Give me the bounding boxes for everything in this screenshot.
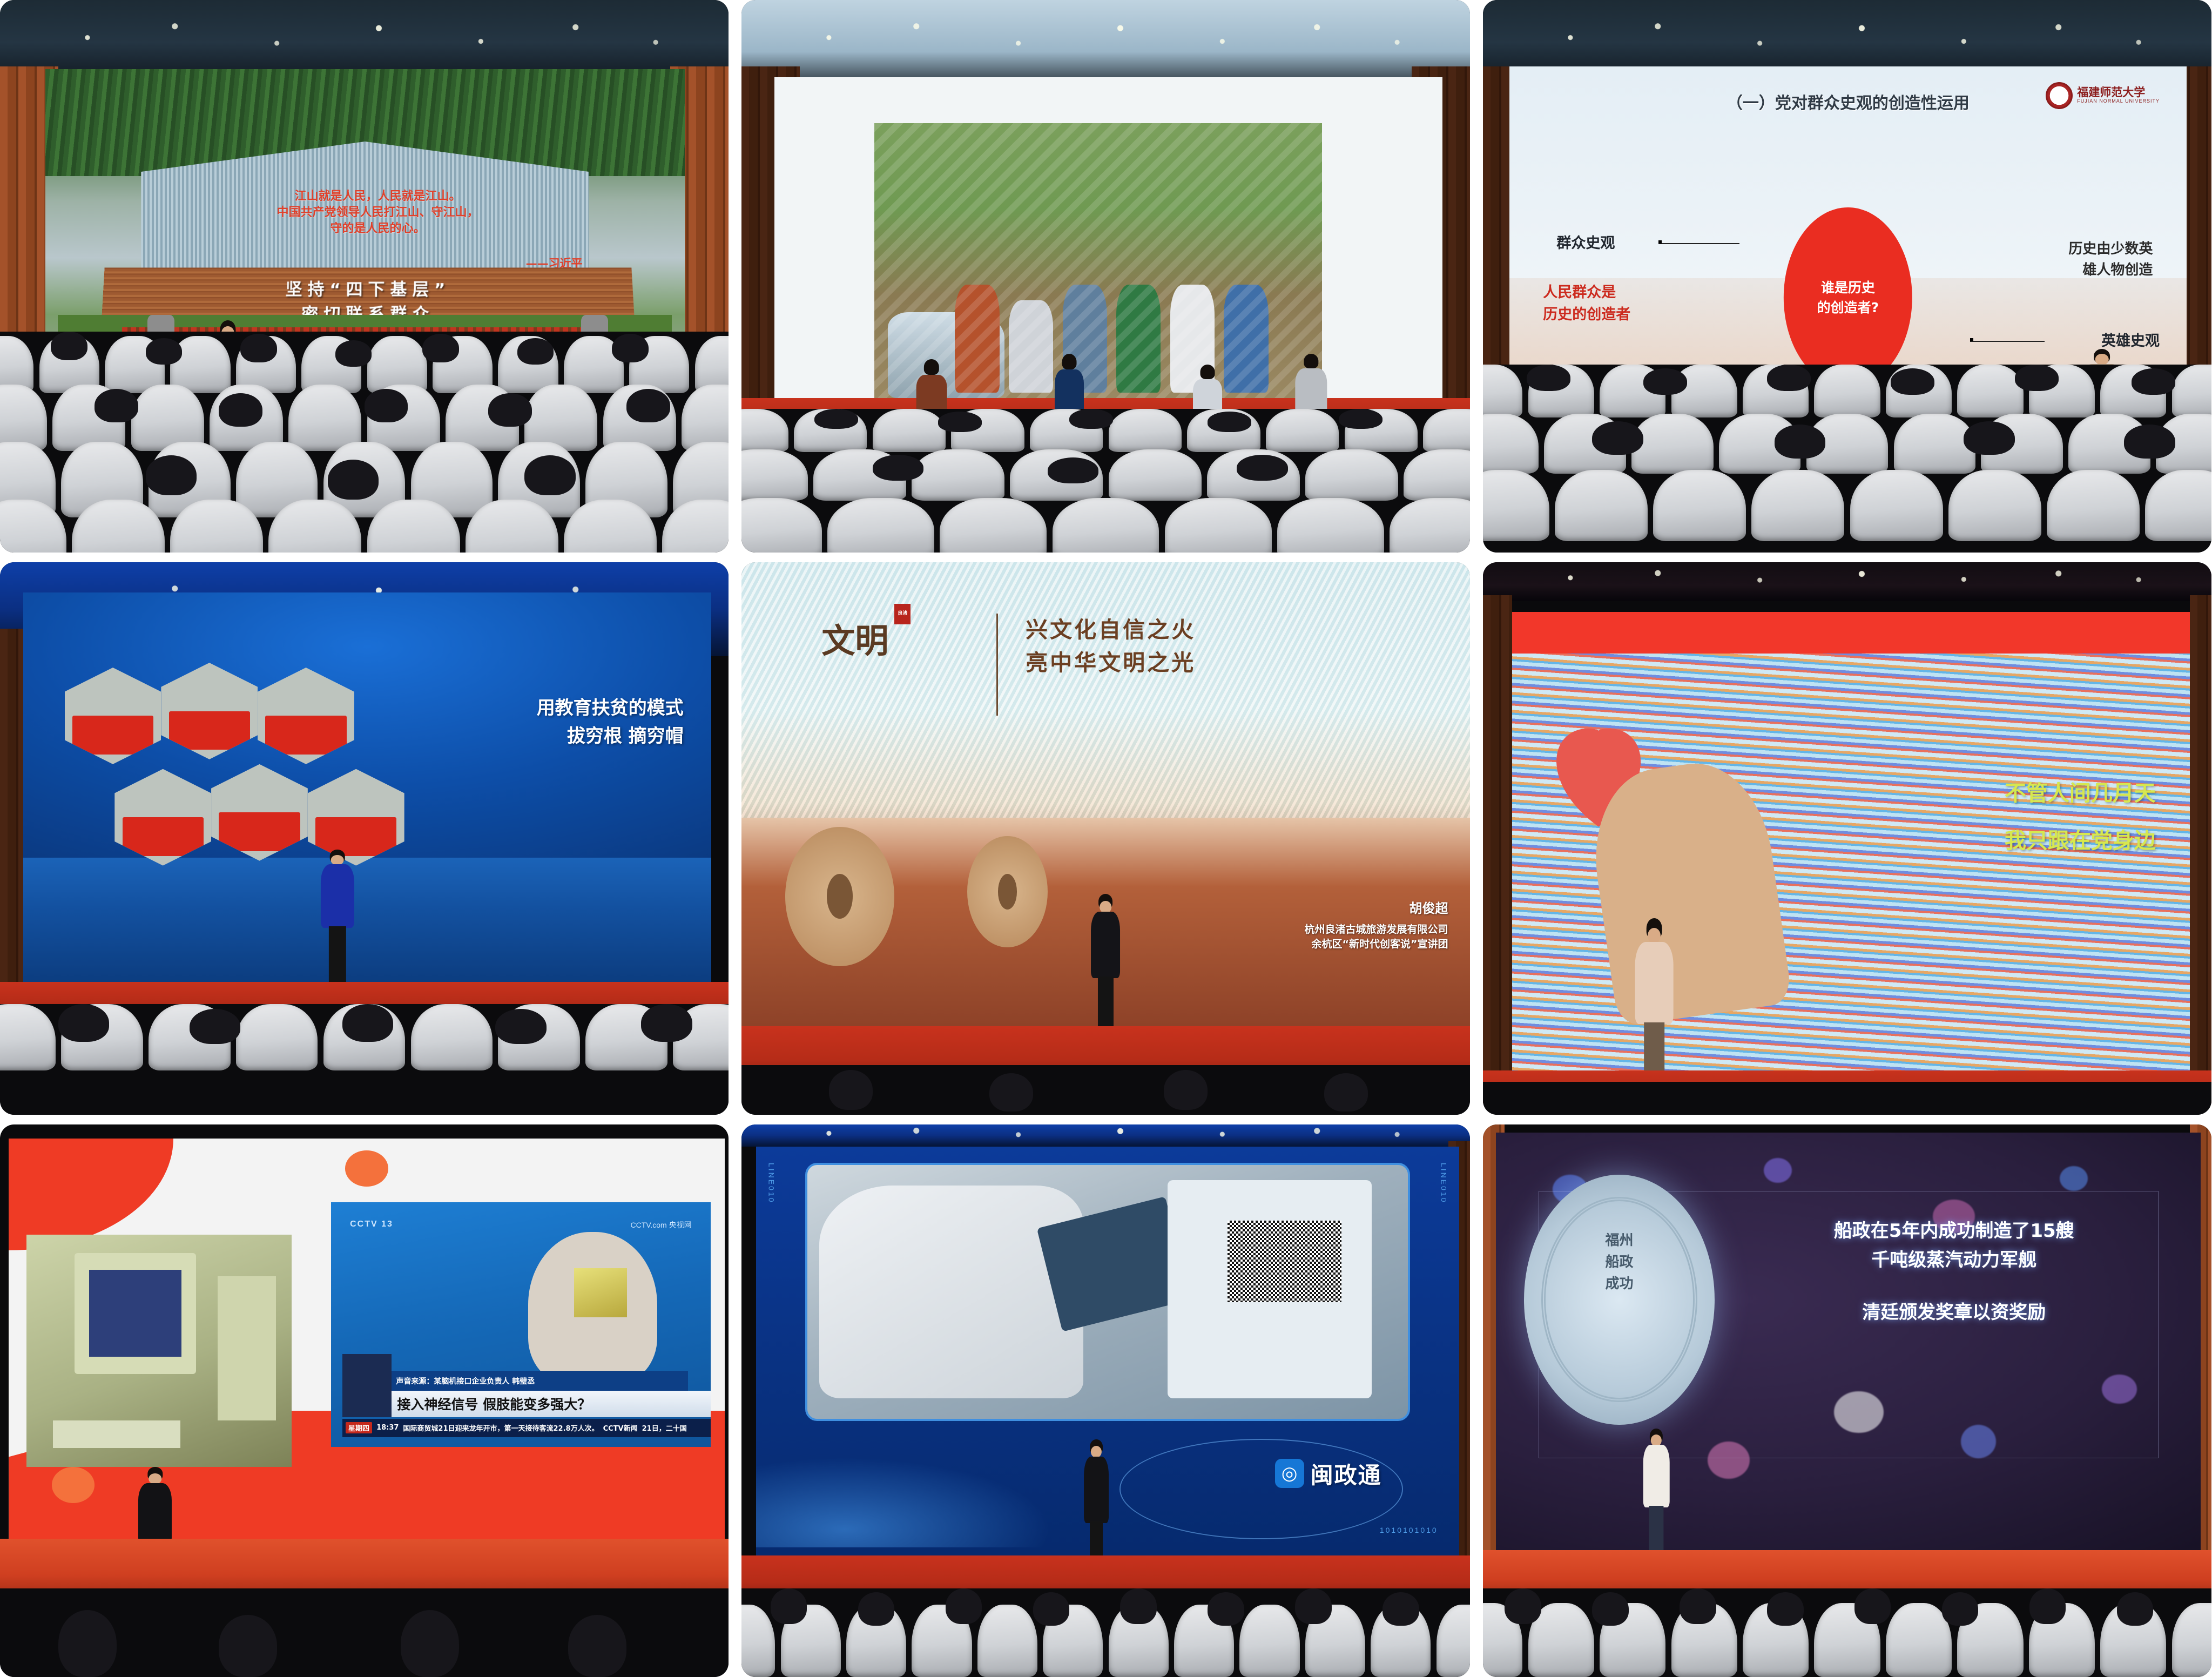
- presenter-legs: [1644, 1022, 1665, 1076]
- calligraphy-right-line-2: 雄人物创造: [2068, 260, 2153, 281]
- arm-with-sleeve: [819, 1186, 1083, 1398]
- calligraphy-right: 历史由少数英 雄人物创造: [2068, 239, 2153, 281]
- presenter-on-screen: [1634, 918, 1675, 1076]
- cctv-news-clip: CCTV 13 CCTV.com 央视网 声音来源：某脑机接口企业负责人 韩璧丞…: [331, 1202, 711, 1446]
- audience-seating: [1483, 365, 2211, 553]
- hexagon-photo: [114, 769, 211, 866]
- hand-icon: [1583, 754, 1793, 1027]
- ticker-day: 星期四: [346, 1422, 372, 1433]
- keyboard: [53, 1420, 180, 1449]
- university-name-zh: 福建师范大学: [2077, 86, 2160, 99]
- speaker-shirt: [138, 1483, 172, 1544]
- speaker-org-line-1: 杭州良渚古城旅游发展有限公司: [1305, 922, 1448, 938]
- question-line-1: 谁是历史: [1821, 278, 1875, 298]
- news-headline: 接入神经信号 假肢能变多强大？: [392, 1391, 710, 1418]
- speaker-legs: [328, 926, 346, 982]
- audience-seating: [741, 1588, 1470, 1677]
- speaker-figure: [1084, 1439, 1109, 1572]
- speaker-credit: 胡俊超 杭州良渚古城旅游发展有限公司 余杭区“新时代创客说”宣讲团: [1305, 899, 1448, 952]
- hexagon-photo-cluster: [65, 663, 422, 904]
- guest-hair: [924, 359, 939, 375]
- ticker-tail-logo: CCTV新闻: [603, 1423, 638, 1433]
- panel-top-left[interactable]: 江山就是人民，人民就是江山。 中国共产党领导人民打江山、守江山， 守的是人民的心…: [0, 0, 729, 553]
- binary-decor: 1010101010: [1380, 1525, 1438, 1535]
- red-top-band: [1512, 612, 2190, 654]
- pc-tower: [218, 1276, 276, 1420]
- lyric-line-2: 我只跟在党身边: [2005, 817, 2156, 865]
- speaker-suit: [1091, 912, 1121, 978]
- cctv-channel-label: CCTV 13: [350, 1220, 393, 1229]
- arrow-left-icon: [1658, 243, 1740, 244]
- speaker-jacket: [321, 864, 354, 928]
- lyric-line-1: 不管人间几月天: [2005, 770, 2156, 817]
- crt-monitor: [75, 1253, 197, 1374]
- headline-line-1: 用教育扶贫的模式: [537, 694, 684, 723]
- photo-collage-grid: 江山就是人民，人民就是江山。 中国共产党领导人民打江山、守江山， 守的是人民的心…: [0, 0, 2212, 1659]
- news-source-line: 声音来源：某脑机接口企业负责人 韩璧丞: [392, 1371, 687, 1390]
- striped-sky-texture: [741, 562, 1470, 818]
- wall-left: [1483, 595, 1512, 1103]
- panel-middle-left[interactable]: 用教育扶贫的模式 拔穷根 摘穷帽: [0, 562, 729, 1115]
- speaker-name: 胡俊超: [1305, 899, 1448, 918]
- presenter-head: [1648, 928, 1661, 944]
- jade-bi-disc: [785, 827, 894, 966]
- label-hero-view: 英雄史观: [2101, 329, 2160, 350]
- university-logo: 福建师范大学 FUJIAN NORMAL UNIVERSITY: [2046, 82, 2160, 109]
- quote-line-3: 守的是人民的心。: [160, 221, 595, 237]
- speaker-figure: [1091, 894, 1121, 1032]
- slide-headline: 用教育扶贫的模式 拔穷根 摘穷帽: [537, 694, 684, 751]
- news-ticker: 星期四 18:37 国际商贸城21日迎来龙年开市，第一天接待客流22.8万人次。…: [342, 1419, 711, 1437]
- orange-dot-decor: [345, 1150, 388, 1187]
- university-seal-icon: [2046, 82, 2073, 109]
- binary-edge-left: LINE010: [766, 1163, 776, 1203]
- calligraphy-left-line-2: 历史的创造者: [1543, 304, 1630, 326]
- binary-edge-right: LINE010: [1439, 1163, 1448, 1203]
- audience-seating: [0, 1588, 729, 1677]
- university-logo-text: 福建师范大学 FUJIAN NORMAL UNIVERSITY: [2077, 86, 2160, 104]
- panel-bottom-left[interactable]: CCTV 13 CCTV.com 央视网 声音来源：某脑机接口企业负责人 韩璧丞…: [0, 1124, 729, 1677]
- retro-computer-photo: [26, 1235, 292, 1467]
- app-logo-text: 闽政通: [1311, 1457, 1382, 1490]
- jade-bi-disc: [967, 836, 1047, 947]
- calligraphy-left-line-1: 人民群众是: [1543, 282, 1630, 304]
- orange-dot-decor: [52, 1467, 95, 1503]
- quote-line-1: 江山就是人民，人民就是江山。: [160, 188, 595, 205]
- speaker-shirt: [1643, 1445, 1670, 1507]
- liangzhu-stamp: 良渚: [894, 604, 911, 624]
- wall-right: [2190, 595, 2211, 1103]
- presenter-clothing: [1635, 942, 1674, 1024]
- presenter-head: [2095, 354, 2109, 365]
- hexagon-photo: [161, 663, 258, 759]
- speaker-org-line-2: 余杭区“新时代创客说”宣讲团: [1305, 937, 1448, 952]
- led-screen-panel-2: [774, 77, 1442, 431]
- guest-hair: [1201, 365, 1215, 379]
- central-question-bubble: 谁是历史 的创造者?: [1784, 207, 1912, 388]
- quote-line-2: 中国共产党领导人民打江山、守江山，: [160, 205, 595, 221]
- audience-seating: [1483, 1588, 2211, 1677]
- audience-seating: [741, 409, 1470, 553]
- headline-line-2: 亮中华文明之光: [1026, 646, 1196, 680]
- cctv-watermark: CCTV.com 央视网: [631, 1220, 692, 1230]
- ticker-tail: 21日，二十国: [642, 1423, 687, 1433]
- speaker-figure: [321, 850, 354, 982]
- panel-middle-right[interactable]: 不管人间几月天 我只跟在党身边: [1483, 562, 2211, 1115]
- slide-headline: 兴文化自信之火 亮中华文明之光: [1026, 614, 1196, 680]
- panel-bottom-center[interactable]: LINE010 LINE010 ◎ 闽政通 1010101010: [741, 1124, 1470, 1677]
- audience-seating: [1483, 1082, 2211, 1115]
- banner-line-1: 坚持“四下基层”: [103, 278, 633, 302]
- panel-bottom-right[interactable]: 福州船政成功 船政在5年内成功制造了15艘 千吨级蒸汽动力军舰 清廷颁发奖章以资…: [1483, 1124, 2211, 1677]
- calligraphy-left: 人民群众是 历史的创造者: [1543, 282, 1630, 326]
- red-corner-shape: [9, 1139, 173, 1251]
- brain-chip-icon: [574, 1268, 627, 1317]
- slide-line-3: 清廷颁发奖章以资奖励: [1750, 1298, 2159, 1327]
- audience-seating: [0, 1004, 729, 1115]
- audience-seating: [741, 1065, 1470, 1115]
- news-anchor-inset: [342, 1354, 392, 1418]
- speaker-legs: [1098, 976, 1113, 1032]
- stone-medallion: 福州船政成功: [1524, 1175, 1714, 1425]
- speaker-hair: [1062, 354, 1077, 369]
- ceiling-lights: [741, 1124, 1470, 1147]
- led-screen-panel-6: 不管人间几月天 我只跟在党身边: [1512, 612, 2190, 1076]
- panel-top-center[interactable]: [741, 0, 1470, 553]
- vertical-divider: [996, 614, 998, 716]
- headline-line-2: 拔穷根 摘穷帽: [537, 722, 684, 751]
- headline-line-1: 兴文化自信之火: [1026, 614, 1196, 647]
- medallion-inscription: 福州船政成功: [1524, 1230, 1714, 1295]
- app-logo: ◎ 闽政通: [1275, 1457, 1382, 1490]
- label-mass-view: 群众史观: [1556, 231, 1615, 252]
- civilization-wordmark: 文明: [821, 614, 888, 662]
- led-screen-panel-9: 福州船政成功 船政在5年内成功制造了15艘 千吨级蒸汽动力军舰 清廷颁发奖章以资…: [1496, 1133, 2200, 1550]
- panel-top-right[interactable]: （一）党对群众史观的创造性运用 福建师范大学 FUJIAN NORMAL UNI…: [1483, 0, 2211, 553]
- qr-code: [1228, 1221, 1341, 1302]
- hexagon-photo: [211, 764, 308, 861]
- slide-lyrics: 不管人间几月天 我只跟在党身边: [2005, 770, 2156, 865]
- university-name-en: FUJIAN NORMAL UNIVERSITY: [2077, 99, 2160, 104]
- slide-line-1: 船政在5年内成功制造了15艘: [1750, 1216, 2159, 1245]
- video-frame: [805, 1163, 1410, 1420]
- slide-line-2: 千吨级蒸汽动力军舰: [1750, 1245, 2159, 1275]
- panel-middle-center[interactable]: 文明 良渚 兴文化自信之火 亮中华文明之光 胡俊超 杭州良渚古城旅游发展有限公司…: [741, 562, 1470, 1115]
- audience-seating: [0, 332, 729, 553]
- hexagon-photo: [65, 668, 161, 764]
- arrow-right-icon: [1970, 341, 2045, 342]
- speaker-suit: [1084, 1457, 1109, 1523]
- led-screen-panel-7: CCTV 13 CCTV.com 央视网 声音来源：某脑机接口企业负责人 韩璧丞…: [9, 1139, 725, 1539]
- question-line-2: 的创造者?: [1817, 298, 1879, 318]
- ticker-time: 18:37: [376, 1424, 399, 1432]
- slide-quote: 江山就是人民，人民就是江山。 中国共产党领导人民打江山、守江山， 守的是人民的心…: [160, 188, 595, 237]
- ticker-text: 国际商贸城21日迎来龙年开市，第一天接待客流22.8万人次。: [403, 1423, 598, 1433]
- slide-text: 船政在5年内成功制造了15艘 千吨级蒸汽动力军舰 清廷颁发奖章以资奖励: [1750, 1216, 2159, 1327]
- operator-hair: [1304, 354, 1318, 368]
- ceiling-lights: [1483, 562, 2211, 601]
- calligraphy-right-line-1: 历史由少数英: [2068, 239, 2153, 260]
- led-screen-panel-4: 用教育扶贫的模式 拔穷根 摘穷帽: [23, 592, 711, 982]
- hexagon-photo: [258, 668, 354, 764]
- app-logo-mark-icon: ◎: [1275, 1459, 1304, 1488]
- dot-wave-decor: [756, 1457, 1051, 1547]
